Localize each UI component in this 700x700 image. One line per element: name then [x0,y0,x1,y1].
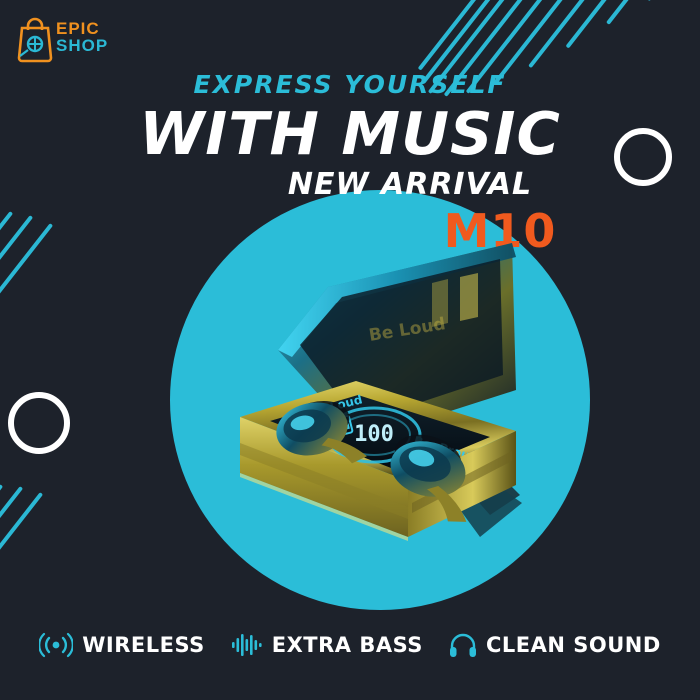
brand-logo[interactable]: EPIC SHOP [10,12,140,74]
headphones-icon [449,632,477,658]
product-image: Be Loud Be Loud Be Proud [160,185,580,585]
decorative-ring-left [8,392,70,454]
feature-clean-sound: CLEAN SOUND [449,632,661,658]
feature-wireless-label: WIRELESS [82,633,205,657]
shopping-bag-icon [12,14,58,64]
feature-clean-sound-label: CLEAN SOUND [486,633,661,657]
feature-wireless: WIRELESS [39,632,205,658]
decorative-stripes-bottom-left [0,500,100,620]
audio-waveform-icon [231,632,263,658]
svg-text:100: 100 [354,422,394,447]
logo-text-epic: EPIC [56,20,108,37]
wireless-signal-icon [39,632,73,658]
feature-extra-bass-label: EXTRA BASS [272,633,423,657]
promo-poster: EPIC SHOP EXPRESS YOURSELF WITH MUSIC NE… [0,0,700,700]
feature-bar: WIRELESS EXTRA BASS [0,632,700,658]
feature-extra-bass: EXTRA BASS [231,632,423,658]
headline-main: WITH MUSIC [0,103,700,165]
headline-eyebrow: EXPRESS YOURSELF [0,70,700,99]
logo-text-shop: SHOP [56,37,108,54]
